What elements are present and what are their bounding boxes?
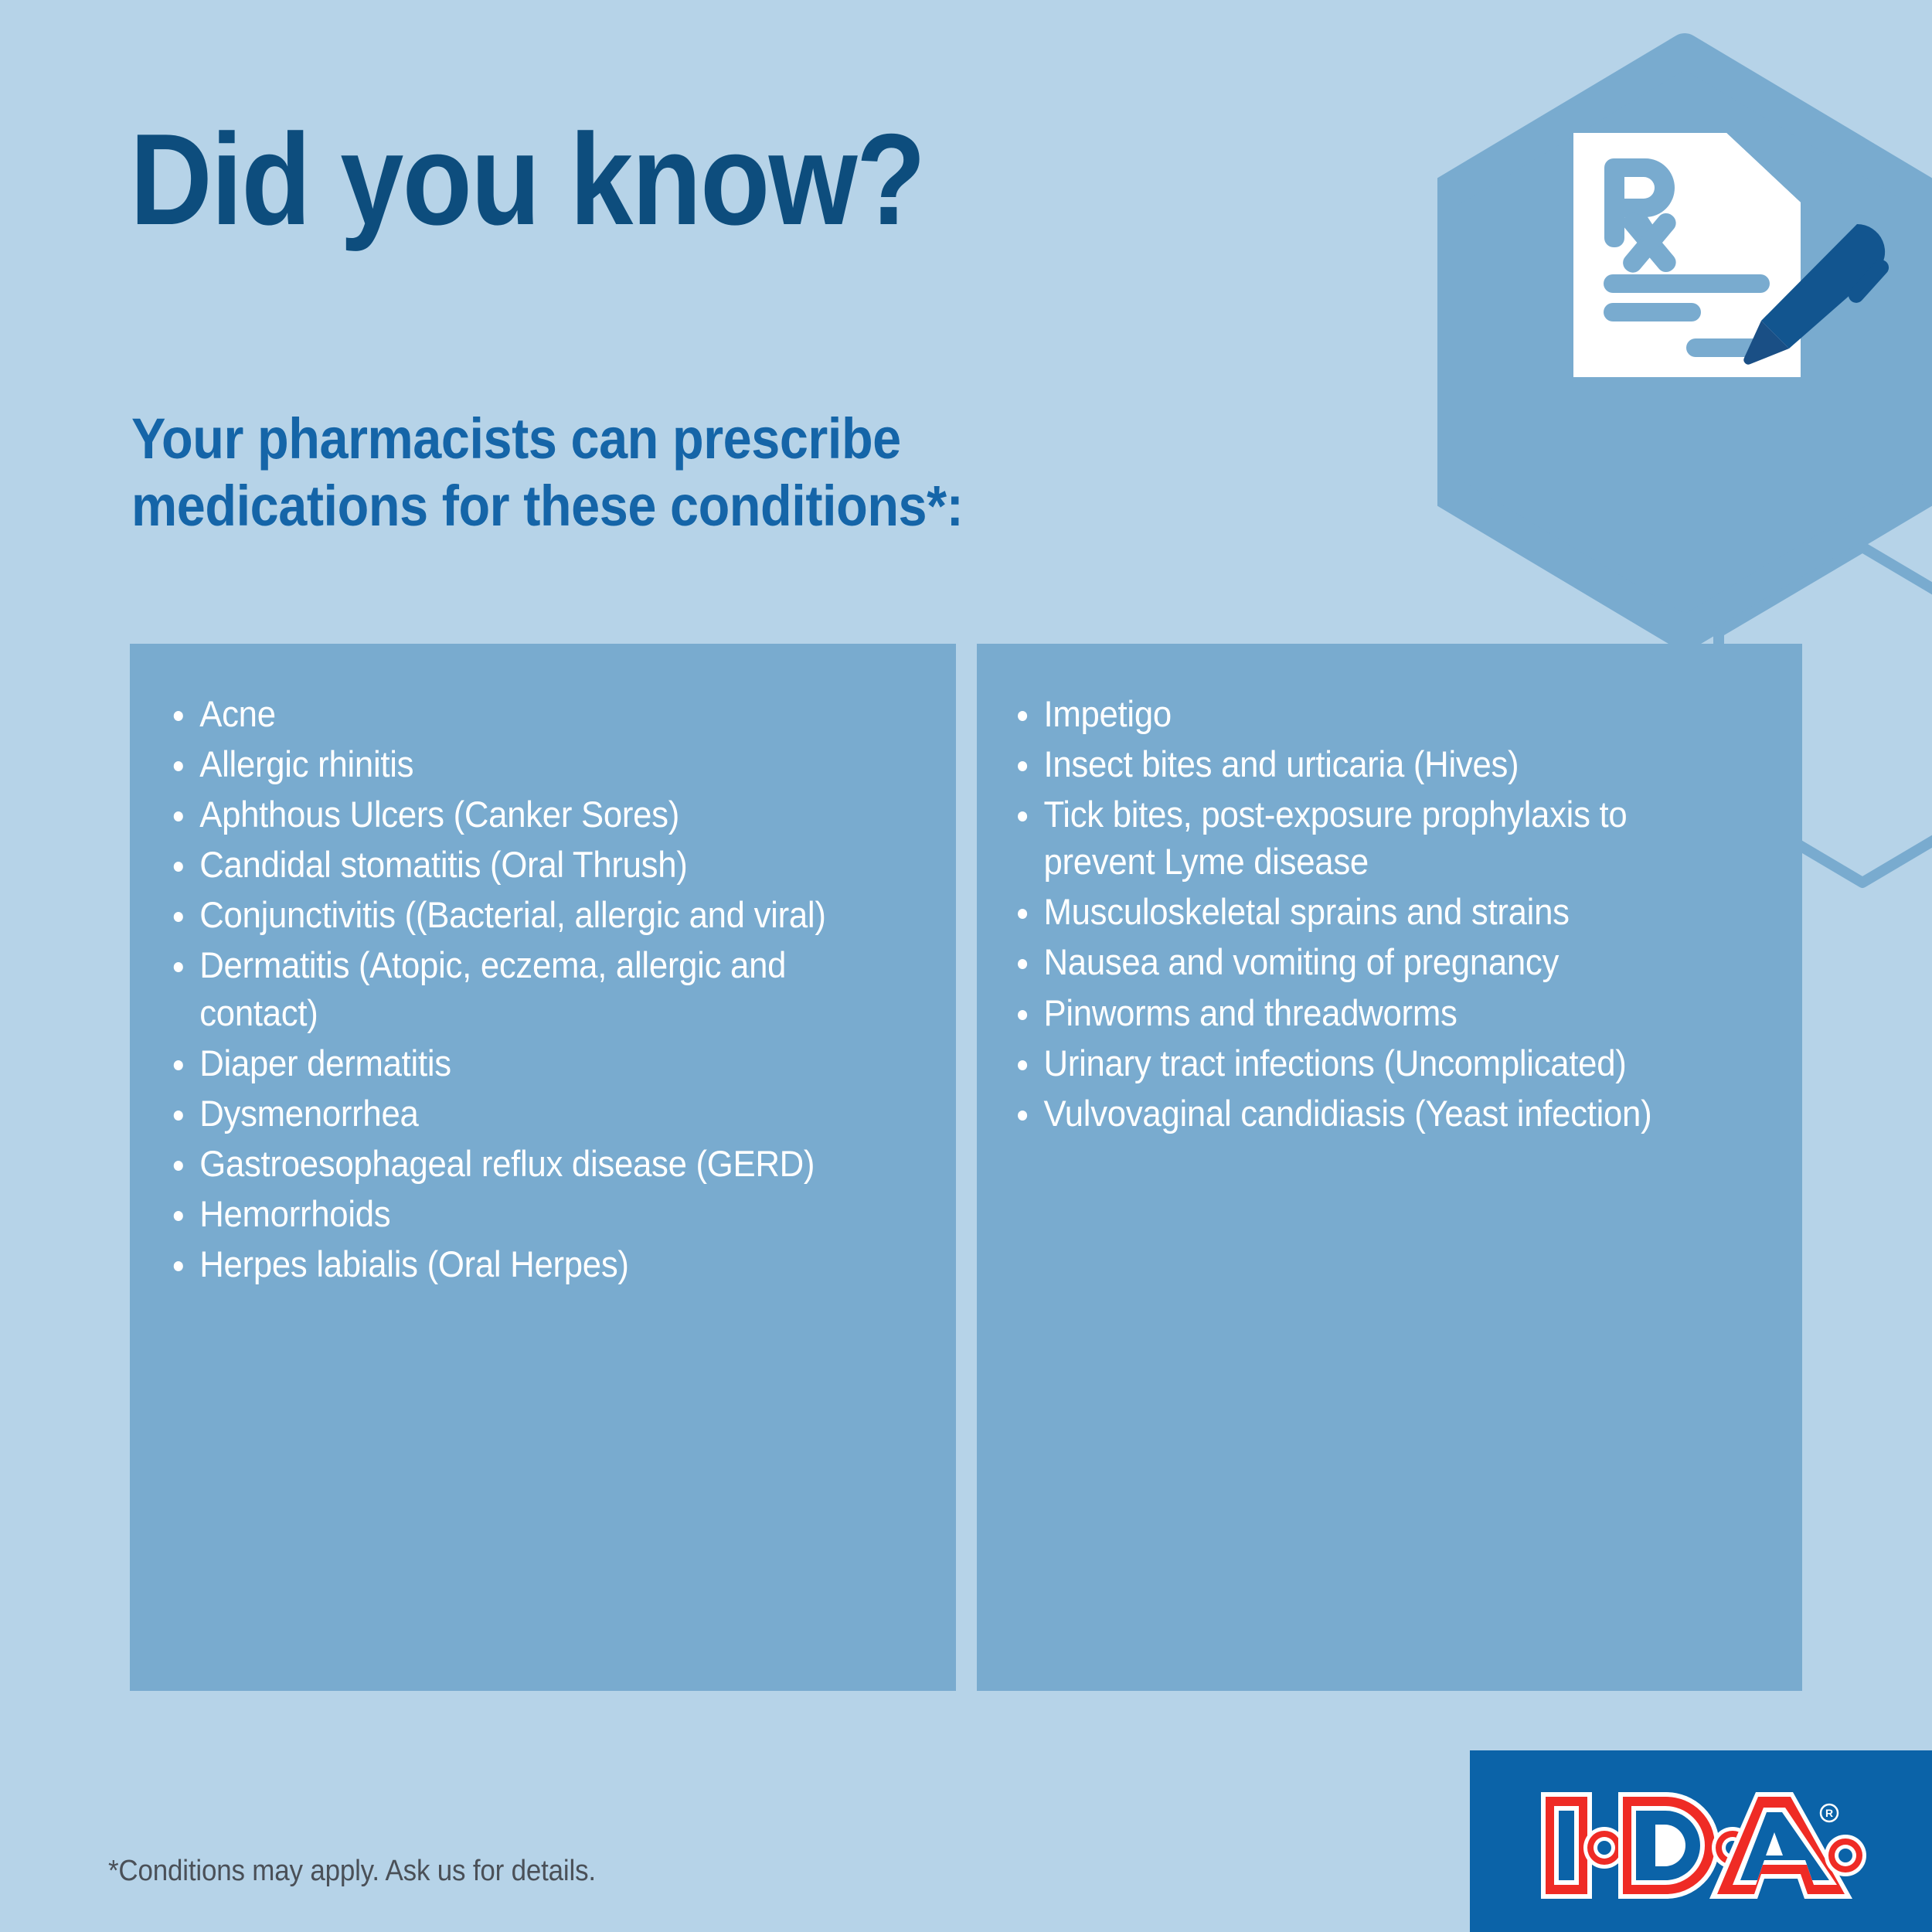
list-item: Vulvovaginal candidiasis (Yeast infectio… xyxy=(1008,1090,1718,1137)
list-item: Insect bites and urticaria (Hives) xyxy=(1008,740,1718,787)
list-item: Aphthous Ulcers (Canker Sores) xyxy=(161,791,871,838)
list-item: Acne xyxy=(161,690,871,737)
page-subtitle: Your pharmacists can prescribe medicatio… xyxy=(131,406,1175,539)
footnote-text: *Conditions may apply. Ask us for detail… xyxy=(108,1855,596,1888)
logo-separator-dot-3 xyxy=(1825,1835,1866,1876)
conditions-list-right: Impetigo Insect bites and urticaria (Hiv… xyxy=(1008,690,1772,1137)
list-item: Hemorrhoids xyxy=(161,1190,871,1237)
list-item: Gastroesophageal reflux disease (GERD) xyxy=(161,1140,871,1187)
list-item: Diaper dermatitis xyxy=(161,1039,871,1087)
rx-symbol-icon xyxy=(1604,158,1680,277)
list-item: Herpes labialis (Oral Herpes) xyxy=(161,1240,871,1287)
logo-letter-d xyxy=(1618,1792,1719,1899)
list-item: Pinworms and threadworms xyxy=(1008,989,1718,1036)
ida-logo-block: R xyxy=(1470,1750,1932,1932)
conditions-panel-right: Impetigo Insect bites and urticaria (Hiv… xyxy=(977,644,1803,1691)
hexagon-filled-decoration xyxy=(1437,0,1932,680)
list-item: Conjunctivitis ((Bacterial, allergic and… xyxy=(161,891,871,938)
conditions-list-left: Acne Allergic rhinitis Aphthous Ulcers (… xyxy=(161,690,925,1287)
registered-trademark-icon: R xyxy=(1821,1804,1838,1821)
conditions-panels: Acne Allergic rhinitis Aphthous Ulcers (… xyxy=(130,644,1802,1691)
page-title: Did you know? xyxy=(130,114,924,244)
hexagon-shape xyxy=(1441,50,1928,634)
prescription-document-icon xyxy=(1573,133,1801,377)
list-item: Allergic rhinitis xyxy=(161,740,871,787)
subtitle-line-2: medications for these conditions*: xyxy=(131,473,1175,540)
pen-icon xyxy=(1743,224,1892,365)
svg-text:R: R xyxy=(1825,1807,1833,1819)
list-item: Candidal stomatitis (Oral Thrush) xyxy=(161,841,871,888)
ida-logo: R xyxy=(1538,1787,1872,1903)
list-item: Musculoskeletal sprains and strains xyxy=(1008,888,1718,935)
list-item: Urinary tract infections (Uncomplicated) xyxy=(1008,1039,1718,1087)
list-item: Dermatitis (Atopic, eczema, allergic and… xyxy=(161,941,871,1036)
list-item: Dysmenorrhea xyxy=(161,1090,871,1137)
subtitle-line-1: Your pharmacists can prescribe xyxy=(131,406,1175,473)
poster-canvas: Did you know? Your pharmacists can presc… xyxy=(0,0,1932,1932)
list-item: Nausea and vomiting of pregnancy xyxy=(1008,938,1718,985)
conditions-panel-left: Acne Allergic rhinitis Aphthous Ulcers (… xyxy=(130,644,956,1691)
list-item: Tick bites, post-exposure prophylaxis to… xyxy=(1008,791,1718,885)
list-item: Impetigo xyxy=(1008,690,1718,737)
